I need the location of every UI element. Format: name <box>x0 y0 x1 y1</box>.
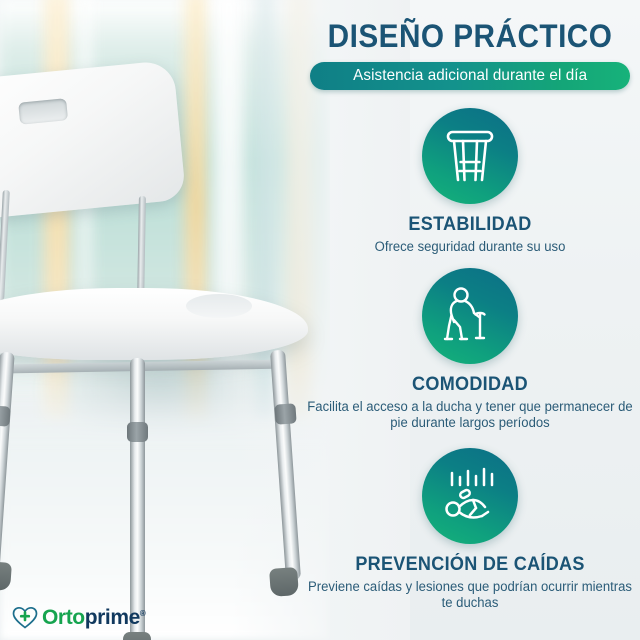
feature-item-estabilidad: ESTABILIDAD Ofrece seguridad durante su … <box>300 108 640 255</box>
elderly-walker-icon <box>442 286 498 346</box>
chair-leg <box>270 350 301 580</box>
chair-leg-collar <box>274 403 296 424</box>
person-falling-icon <box>440 467 500 525</box>
motion-lines-icon <box>452 469 492 485</box>
feature-title: PREVENCIÓN DE CAÍDAS <box>309 554 632 576</box>
chair-leg <box>130 358 145 640</box>
feature-description: Previene caídas y lesiones que podrían o… <box>305 579 635 611</box>
chair-seat <box>0 288 308 360</box>
product-shower-chair <box>0 70 338 610</box>
feature-description: Facilita el acceso a la ducha y tener qu… <box>305 399 635 431</box>
heart-plus-icon <box>12 606 38 630</box>
chair-leg-tip <box>0 561 12 591</box>
feature-item-comodidad: COMODIDAD Facilita el acceso a la ducha … <box>300 268 640 431</box>
page-title: DISEÑO PRÁCTICO <box>312 18 628 55</box>
stool-icon <box>443 127 497 185</box>
feature-icon-badge <box>422 448 518 544</box>
brand-name-part2: prime <box>85 606 140 629</box>
content-panel: DISEÑO PRÁCTICO Asistencia adicional dur… <box>300 0 640 640</box>
feature-item-prevencion-caidas: PREVENCIÓN DE CAÍDAS Previene caídas y l… <box>300 448 640 611</box>
feature-icon-badge <box>422 268 518 364</box>
feature-title: ESTABILIDAD <box>309 214 632 236</box>
brand-logo: Ortoprime® <box>12 606 145 630</box>
brand-wordmark: Ortoprime® <box>42 606 145 630</box>
chair-backrest <box>0 60 186 220</box>
subtitle-text: Asistencia adicional durante el día <box>353 67 587 85</box>
chair-leg-collar <box>127 422 148 442</box>
chair-leg-collar <box>0 405 11 426</box>
registered-mark: ® <box>140 609 146 618</box>
chair-backrest-handle-slot <box>18 98 68 124</box>
chair-leg-tip <box>269 567 299 597</box>
feature-description: Ofrece seguridad durante su uso <box>305 239 635 255</box>
brand-name-part1: Orto <box>42 606 85 629</box>
chair-leg-tip <box>123 632 151 640</box>
chair-leg <box>0 352 15 575</box>
infographic-canvas: DISEÑO PRÁCTICO Asistencia adicional dur… <box>0 0 640 640</box>
chair-seat-notch <box>186 294 252 318</box>
feature-icon-badge <box>422 108 518 204</box>
subtitle-banner: Asistencia adicional durante el día <box>310 62 630 90</box>
chair-back-post <box>0 190 10 300</box>
feature-title: COMODIDAD <box>309 374 632 396</box>
